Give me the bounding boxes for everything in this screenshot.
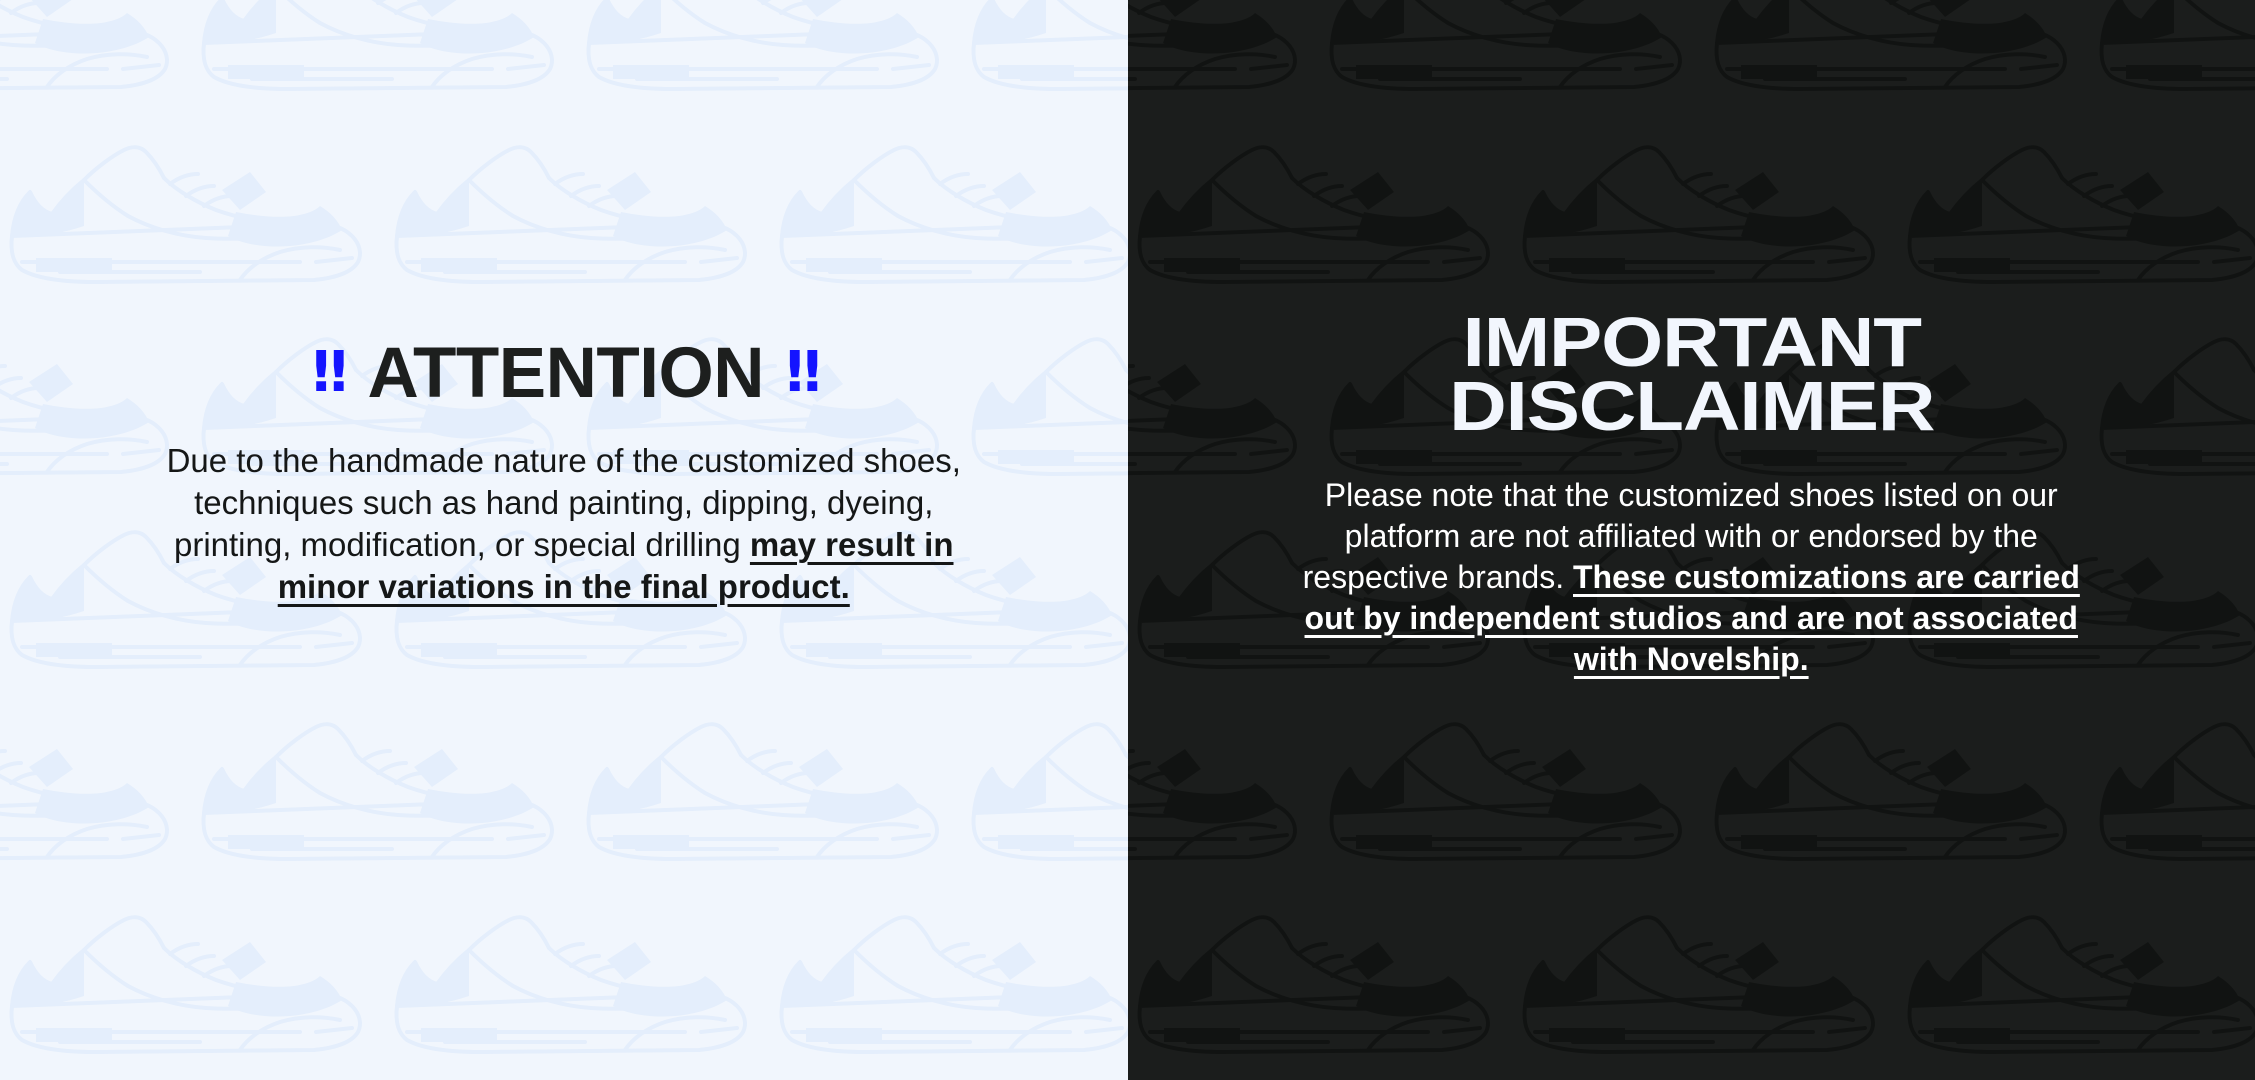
disclaimer-content: IMPORTANT DISCLAIMER Please note that th… [1128, 0, 2255, 680]
disclaimer-heading: IMPORTANT DISCLAIMER [1220, 310, 2163, 439]
attention-body: Due to the handmade nature of the custom… [164, 440, 964, 608]
disclaimer-body: Please note that the customized shoes li… [1281, 475, 2101, 680]
attention-disclaimer-banner: ‼ATTENTION‼ Due to the handmade nature o… [0, 0, 2255, 1080]
attention-content: ‼ATTENTION‼ Due to the handmade nature o… [0, 0, 1128, 608]
disclaimer-heading-line-1: IMPORTANT [1220, 310, 2163, 374]
attention-panel: ‼ATTENTION‼ Due to the handmade nature o… [0, 0, 1128, 1080]
attention-heading: ‼ATTENTION‼ [140, 338, 988, 410]
attention-heading-word: ATTENTION [368, 338, 764, 410]
disclaimer-panel: IMPORTANT DISCLAIMER Please note that th… [1128, 0, 2255, 1080]
disclaimer-heading-line-2: DISCLAIMER [1220, 374, 2163, 438]
double-exclamation-left-icon: ‼ [312, 344, 341, 401]
double-exclamation-right-icon: ‼ [786, 344, 815, 401]
